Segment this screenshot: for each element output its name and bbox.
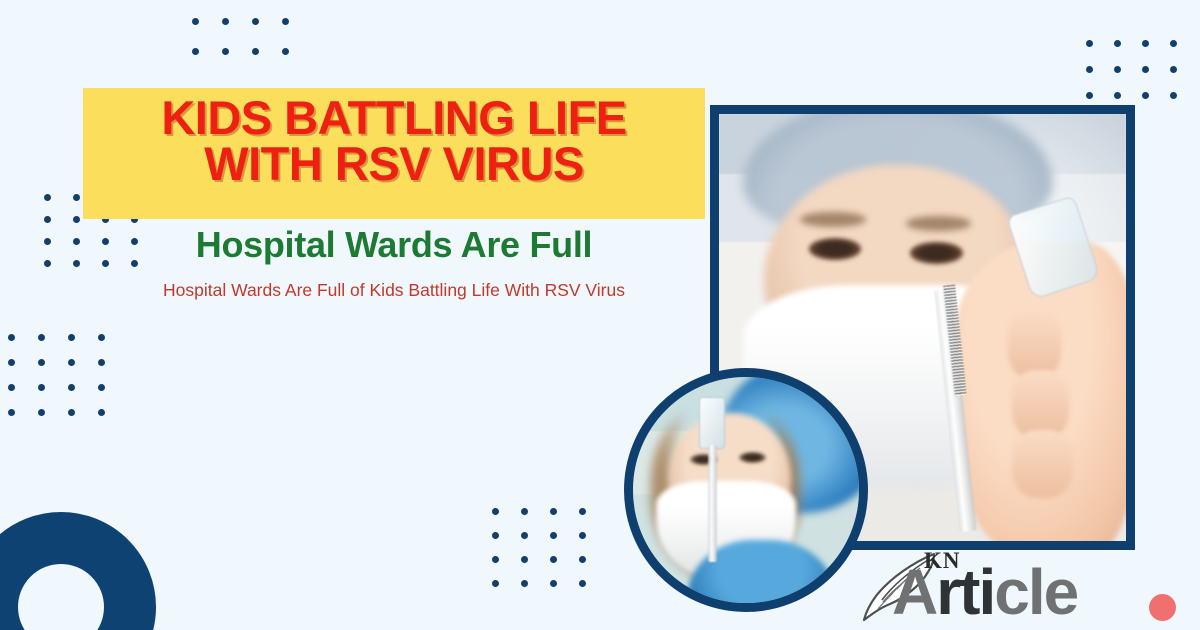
inset-photo-image [633, 377, 859, 603]
inset-syringe [708, 445, 717, 563]
headline-line-1: KIDS BATTLING LIFE [161, 91, 626, 144]
headline-line-2: WITH RSV VIRUS [83, 141, 705, 187]
poster-canvas: KIDS BATTLING LIFE WITH RSV VIRUS Hospit… [0, 0, 1200, 630]
inset-photo [624, 368, 868, 612]
eye-left [809, 238, 862, 260]
logo-wordmark: Article [892, 560, 1077, 624]
dot-cluster-top-left [192, 18, 312, 78]
inset-eye-right [739, 452, 766, 463]
logo-word-part2: rti [936, 556, 994, 628]
finger-1 [1008, 310, 1061, 378]
subtitle: Hospital Wards Are Full [83, 226, 705, 264]
caption-text: Hospital Wards Are Full of Kids Battling… [83, 280, 705, 301]
dot-cluster-left-lower [8, 334, 128, 434]
dot-cluster-center-bottom [492, 508, 608, 604]
logo-word-part1: A [892, 556, 936, 628]
brand-logo[interactable]: KN Article [862, 548, 1192, 630]
logo-dot [1149, 594, 1176, 621]
finger-2 [1012, 370, 1069, 438]
logo-word-part3: cle [994, 556, 1077, 628]
page-title: KIDS BATTLING LIFE WITH RSV VIRUS [83, 95, 705, 187]
eyebrow-right [906, 216, 971, 231]
inset-vial [699, 397, 726, 449]
eyebrow-left [800, 212, 865, 227]
donut-ring-decoration [0, 512, 156, 630]
finger-3 [1012, 430, 1073, 498]
